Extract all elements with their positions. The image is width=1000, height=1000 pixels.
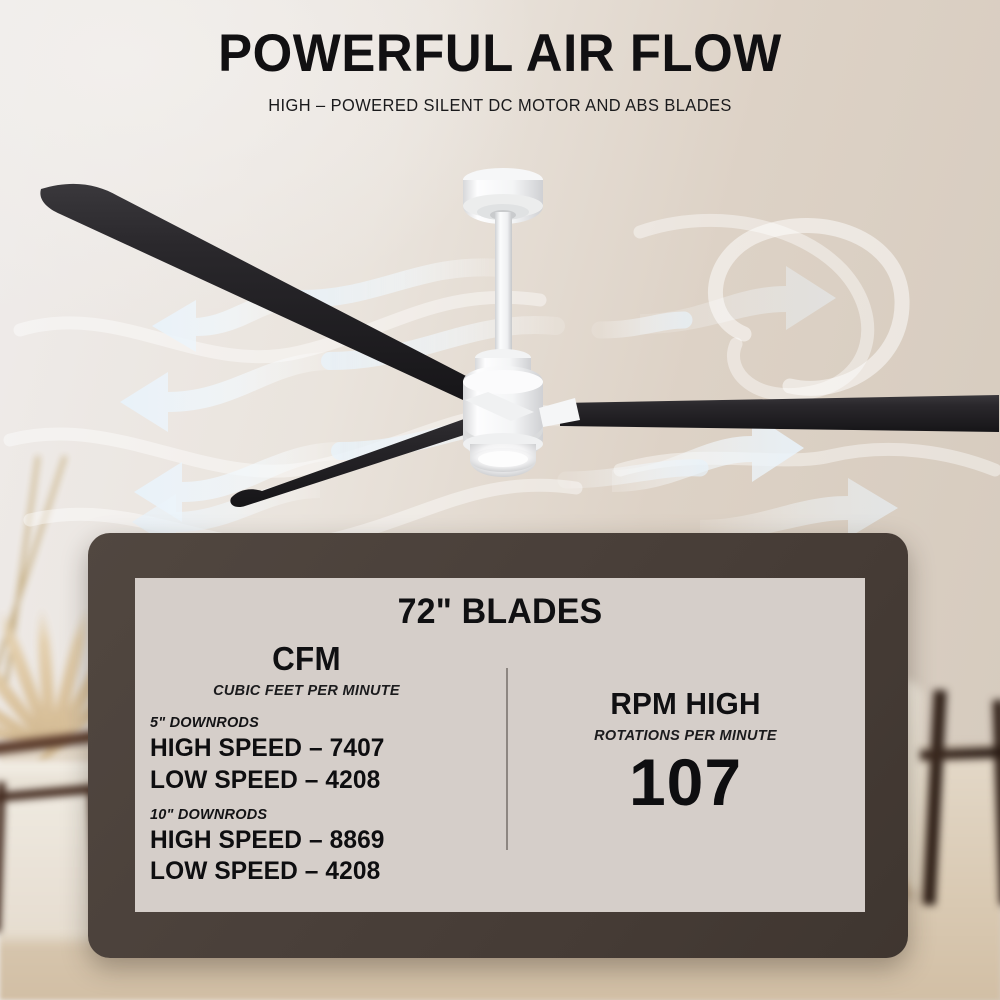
downrod-group-10in: 10" DOWNRODS HIGH SPEED – 8869 LOW SPEED… <box>135 807 506 889</box>
rpm-column: RPM HIGH ROTATIONS PER MINUTE 107 <box>506 686 865 818</box>
cfm-title: CFM <box>117 640 496 678</box>
high-speed-value: HIGH SPEED – 8869 <box>150 825 499 857</box>
blades-title: 72" BLADES <box>146 592 854 632</box>
downrod-label: 5" DOWNRODS <box>150 715 506 731</box>
high-speed-value: HIGH SPEED – 7407 <box>150 733 499 765</box>
spec-panel: 72" BLADES CFM CUBIC FEET PER MINUTE 5" … <box>88 533 908 958</box>
cfm-subtitle: CUBIC FEET PER MINUTE <box>107 683 506 699</box>
low-speed-value: LOW SPEED – 4208 <box>150 765 499 797</box>
rpm-title: RPM HIGH <box>513 686 858 722</box>
rpm-value: 107 <box>506 748 865 818</box>
spec-panel-inner: 72" BLADES CFM CUBIC FEET PER MINUTE 5" … <box>135 578 865 912</box>
low-speed-value: LOW SPEED – 4208 <box>150 856 499 888</box>
cfm-column: CFM CUBIC FEET PER MINUTE 5" DOWNRODS HI… <box>135 640 506 888</box>
dark-chair <box>910 690 1000 950</box>
infographic-canvas: POWERFUL AIR FLOW HIGH – POWERED SILENT … <box>0 0 1000 1000</box>
downrod-label: 10" DOWNRODS <box>150 807 506 823</box>
header: POWERFUL AIR FLOW HIGH – POWERED SILENT … <box>0 26 1000 116</box>
downrod-group-5in: 5" DOWNRODS HIGH SPEED – 7407 LOW SPEED … <box>135 715 506 797</box>
page-subtitle: HIGH – POWERED SILENT DC MOTOR AND ABS B… <box>30 95 970 116</box>
page-title: POWERFUL AIR FLOW <box>20 26 980 81</box>
rpm-subtitle: ROTATIONS PER MINUTE <box>506 728 865 744</box>
